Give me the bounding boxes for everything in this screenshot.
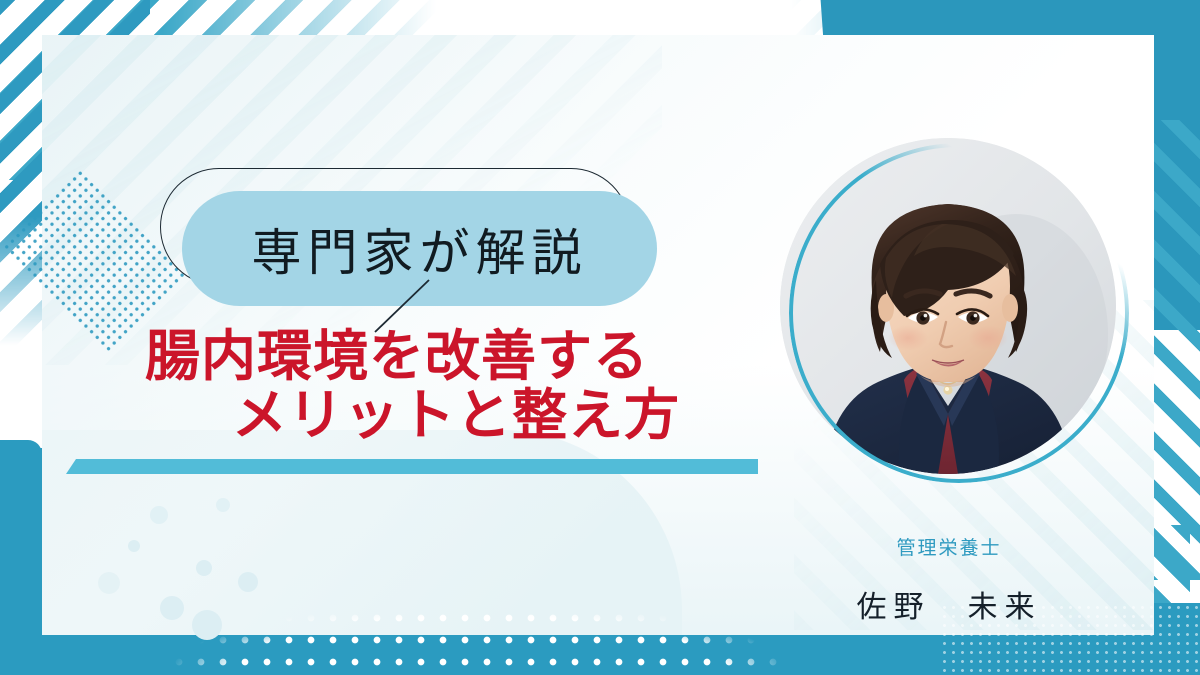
badge-label: 専門家が解説 bbox=[182, 191, 657, 306]
avatar-ring bbox=[789, 143, 1129, 483]
byline-role: 管理栄養士 bbox=[789, 533, 1109, 560]
headline-line-1: 腸内環境を改善する bbox=[145, 327, 785, 386]
polka-dot-pattern-bottom bbox=[80, 585, 880, 675]
headline-underline-bar bbox=[66, 459, 758, 474]
expert-badge: 専門家が解説 bbox=[160, 168, 690, 308]
byline-name: 佐野 未来 bbox=[789, 582, 1109, 626]
poster-canvas: 専門家が解説 腸内環境を改善する メリットと整え方 bbox=[0, 0, 1200, 675]
page-title: 腸内環境を改善する メリットと整え方 bbox=[145, 327, 785, 446]
headline-line-2: メリットと整え方 bbox=[145, 386, 785, 445]
